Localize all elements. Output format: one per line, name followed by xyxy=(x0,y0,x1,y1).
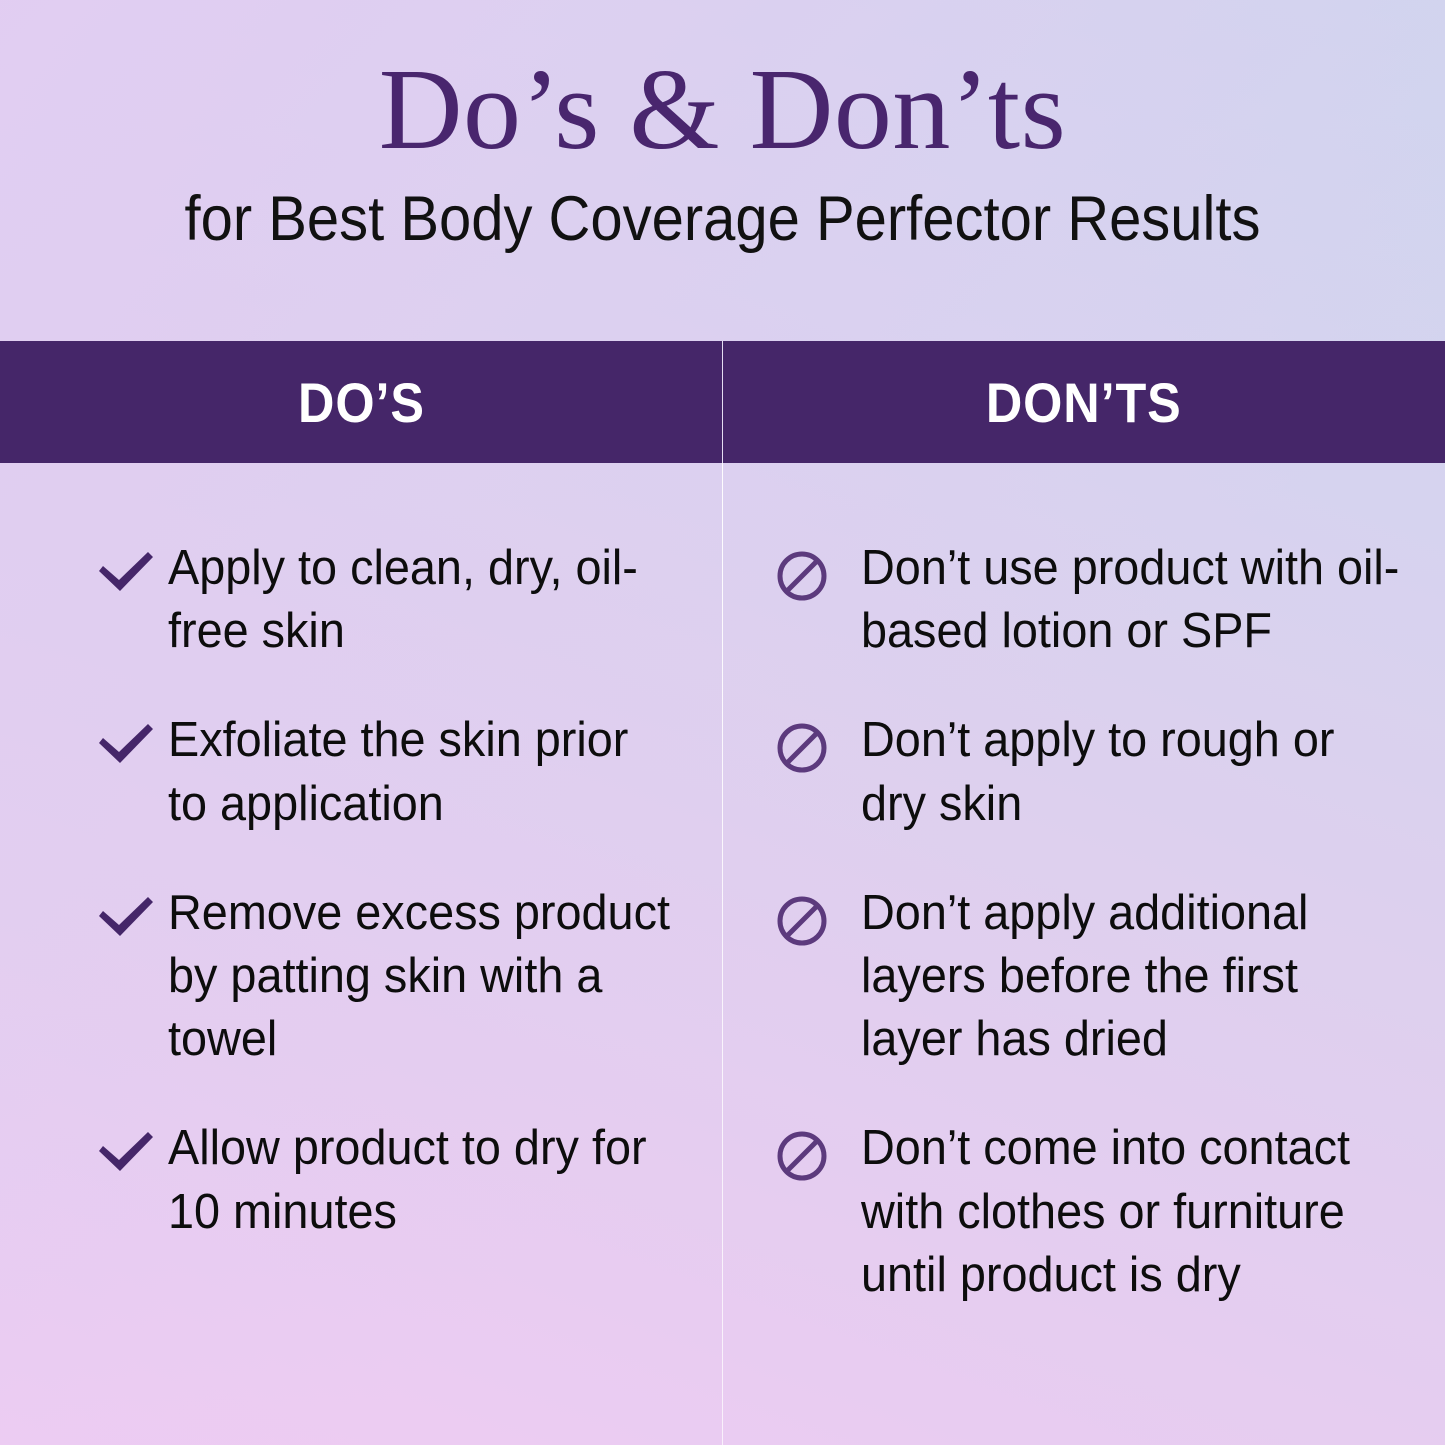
prohibition-icon xyxy=(775,1117,861,1183)
donts-item-text: Don’t use product with oil-based lotion … xyxy=(861,537,1402,663)
donts-heading-label: DON’TS xyxy=(986,370,1182,435)
list-item: Exfoliate the skin prior to application xyxy=(96,709,694,835)
header-section: Do’s & Don’ts for Best Body Coverage Per… xyxy=(0,0,1445,341)
donts-column-header: DON’TS xyxy=(723,341,1445,463)
prohibition-icon xyxy=(775,709,861,775)
list-item: Don’t apply additional layers before the… xyxy=(775,882,1427,1072)
list-item: Apply to clean, dry, oil-free skin xyxy=(96,537,694,663)
dos-item-text: Remove excess product by patting skin wi… xyxy=(168,882,670,1072)
check-icon xyxy=(96,537,168,595)
dos-item-text: Allow product to dry for 10 minutes xyxy=(168,1117,670,1243)
dos-heading-label: DO’S xyxy=(298,370,425,435)
check-icon xyxy=(96,709,168,767)
donts-item-text: Don’t apply additional layers before the… xyxy=(861,882,1402,1072)
list-item: Don’t come into contact with clothes or … xyxy=(775,1117,1427,1307)
column-header-band: DO’S DON’TS xyxy=(0,341,1445,463)
list-item: Don’t apply to rough or dry skin xyxy=(775,709,1427,835)
content-area: Apply to clean, dry, oil-free skin Exfol… xyxy=(0,463,1445,1445)
page-title: Do’s & Don’ts xyxy=(0,0,1445,173)
dos-column: Apply to clean, dry, oil-free skin Exfol… xyxy=(0,463,722,1445)
check-icon xyxy=(96,1117,168,1175)
dos-and-donts-infographic: Do’s & Don’ts for Best Body Coverage Per… xyxy=(0,0,1445,1445)
donts-item-text: Don’t come into contact with clothes or … xyxy=(861,1117,1402,1307)
dos-column-header: DO’S xyxy=(0,341,722,463)
prohibition-icon xyxy=(775,882,861,948)
check-icon xyxy=(96,882,168,940)
dos-item-text: Apply to clean, dry, oil-free skin xyxy=(168,537,670,663)
list-item: Remove excess product by patting skin wi… xyxy=(96,882,694,1072)
list-item: Allow product to dry for 10 minutes xyxy=(96,1117,694,1243)
list-item: Don’t use product with oil-based lotion … xyxy=(775,537,1427,663)
prohibition-icon xyxy=(775,537,861,603)
page-subtitle: for Best Body Coverage Perfector Results xyxy=(58,173,1387,254)
donts-column: Don’t use product with oil-based lotion … xyxy=(723,463,1445,1445)
dos-item-text: Exfoliate the skin prior to application xyxy=(168,709,670,835)
donts-item-text: Don’t apply to rough or dry skin xyxy=(861,709,1402,835)
